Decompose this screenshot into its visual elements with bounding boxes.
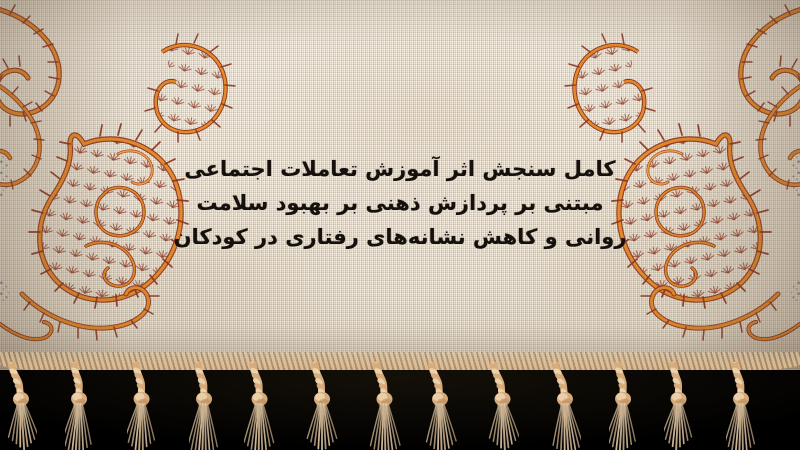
fringe-tassel xyxy=(127,362,161,450)
fringe-tassel xyxy=(306,362,340,450)
fringe-tassel xyxy=(368,362,402,450)
fringe-tassel xyxy=(726,362,760,450)
title-line-3: روانی و کاهش نشانه‌های رفتاری در کودکان xyxy=(0,220,800,254)
fringe-tassel xyxy=(547,362,581,450)
banner-canvas: کامل سنجش اثر آموزش تعاملات اجتماعی مبتن… xyxy=(0,0,800,450)
fringe-tassel xyxy=(609,362,643,450)
fringe-tassel xyxy=(65,362,99,450)
fringe-tassel xyxy=(189,362,223,450)
fringe-tassel-row xyxy=(0,362,800,450)
fringe-tassel xyxy=(485,362,519,450)
fringe-tassel xyxy=(244,362,278,450)
fringe-tassel xyxy=(3,362,37,450)
title-line-2: مبتنی بر پردازش ذهنی بر بهبود سلامت xyxy=(0,186,800,220)
banner-title: کامل سنجش اثر آموزش تعاملات اجتماعی مبتن… xyxy=(0,152,800,254)
title-line-1: کامل سنجش اثر آموزش تعاملات اجتماعی xyxy=(0,152,800,186)
fringe-tassel xyxy=(423,362,457,450)
fringe-tassel xyxy=(664,362,698,450)
